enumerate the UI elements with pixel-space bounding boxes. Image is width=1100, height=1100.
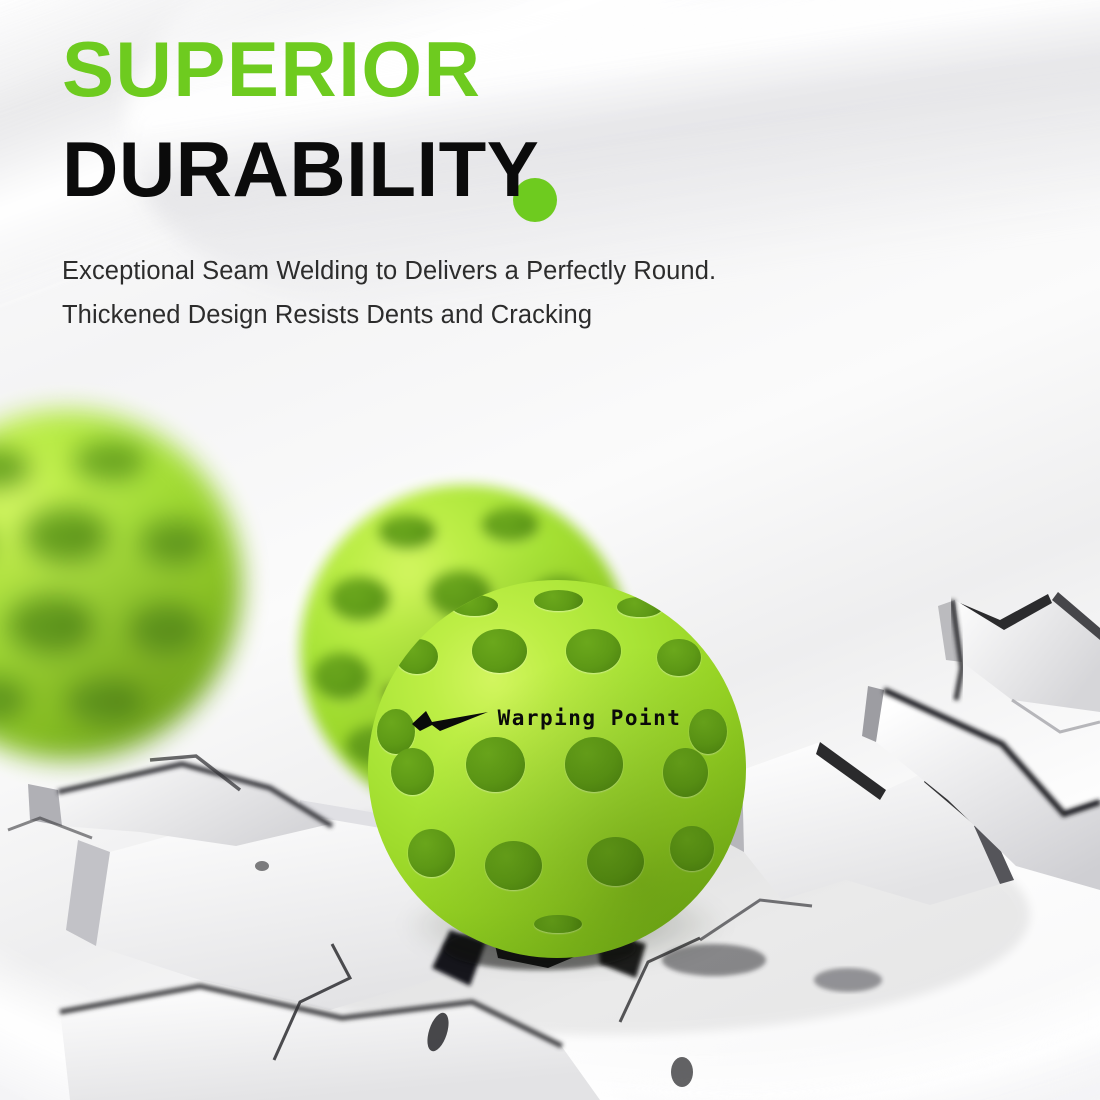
swoosh-dart-icon [410, 705, 490, 735]
subtext-block: Exceptional Seam Welding to Delivers a P… [62, 250, 1022, 338]
ball-primary: Warping Point [368, 580, 746, 958]
headline-block: SUPERIOR DURABILITY Exceptional Seam Wel… [62, 30, 1022, 338]
headline-durability-wrap: DURABILITY [62, 130, 539, 208]
promo-banner: Warping Point [0, 0, 1100, 1100]
brand-name: Warping Point [498, 706, 682, 730]
headline-superior: SUPERIOR [62, 30, 1022, 108]
headline-durability: DURABILITY [62, 130, 539, 208]
subtext-line-1: Exceptional Seam Welding to Delivers a P… [62, 250, 1022, 294]
subtext-line-2: Thickened Design Resists Dents and Crack… [62, 294, 1022, 338]
